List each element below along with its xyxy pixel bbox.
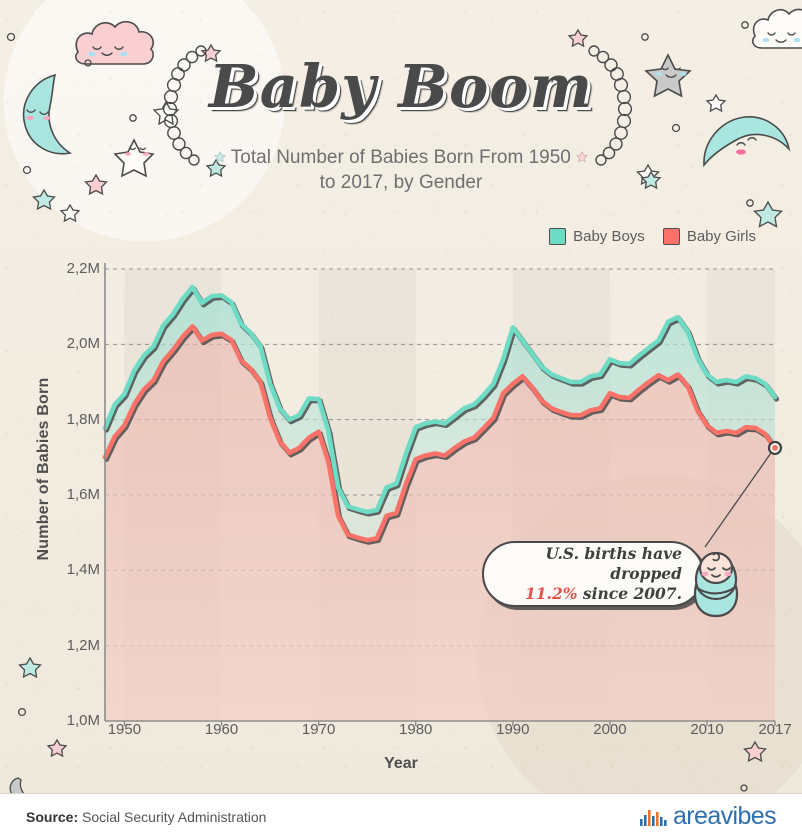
page-subtitle: Total Number of Babies Born From 1950 to…: [0, 145, 802, 195]
x-tick-label: 1960: [205, 721, 238, 738]
x-tick-label: 1990: [496, 721, 529, 738]
x-tick-label: 2017: [758, 721, 791, 738]
subtitle-right-dot-icon: [576, 145, 588, 170]
annotation-part-2: since 2007.: [583, 584, 682, 603]
annotation-percent: 11.2%: [525, 584, 577, 603]
source-label: Source:: [26, 809, 78, 825]
subtitle-line-1: Total Number of Babies Born From 1950: [231, 147, 571, 168]
x-axis-ticks: 19501960197019801990200020102017: [0, 721, 802, 747]
annotation-text: U.S. births have dropped 11.2% since 200…: [498, 544, 682, 604]
areavibes-wordmark: areavibes: [673, 802, 776, 831]
source-value: Social Security Administration: [82, 809, 266, 825]
subtitle-left-dot-icon: [214, 145, 226, 170]
chart-legend: Baby Boys Baby Girls: [549, 228, 756, 245]
x-tick-label: 1950: [108, 721, 141, 738]
subtitle-line-2: to 2017, by Gender: [320, 172, 483, 193]
legend-swatch-girls: [663, 228, 680, 245]
decorations-layer: [0, 0, 802, 260]
x-tick-label: 1970: [302, 721, 335, 738]
x-tick-label: 2010: [690, 721, 723, 738]
source-text: Source: Social Security Administration: [26, 809, 266, 825]
area-chart-plot: [0, 255, 802, 735]
areavibes-mark-icon: [638, 807, 672, 827]
page-title: Baby Boom: [0, 52, 802, 121]
x-tick-label: 2000: [593, 721, 626, 738]
legend-item-baby-boys[interactable]: Baby Boys: [549, 228, 645, 245]
footer-bar: Source: Social Security Administration a…: [0, 793, 802, 840]
legend-label-girls: Baby Girls: [687, 228, 756, 245]
infographic-root: Baby Boom Total Number of Babies Born Fr…: [0, 0, 802, 840]
areavibes-logo[interactable]: areavibes: [638, 802, 776, 831]
annotation-callout: U.S. births have dropped 11.2% since 200…: [482, 541, 704, 607]
legend-label-boys: Baby Boys: [573, 228, 645, 245]
annotation-part-1: U.S. births have dropped: [545, 544, 682, 583]
x-axis-label: Year: [0, 755, 802, 773]
white-cloud-icon: [753, 9, 802, 48]
legend-item-baby-girls[interactable]: Baby Girls: [663, 228, 756, 245]
x-tick-label: 1980: [399, 721, 432, 738]
chart-area: Number of Babies Born 1,0M1,2M1,4M1,6M1,…: [0, 255, 802, 755]
legend-swatch-boys: [549, 228, 566, 245]
